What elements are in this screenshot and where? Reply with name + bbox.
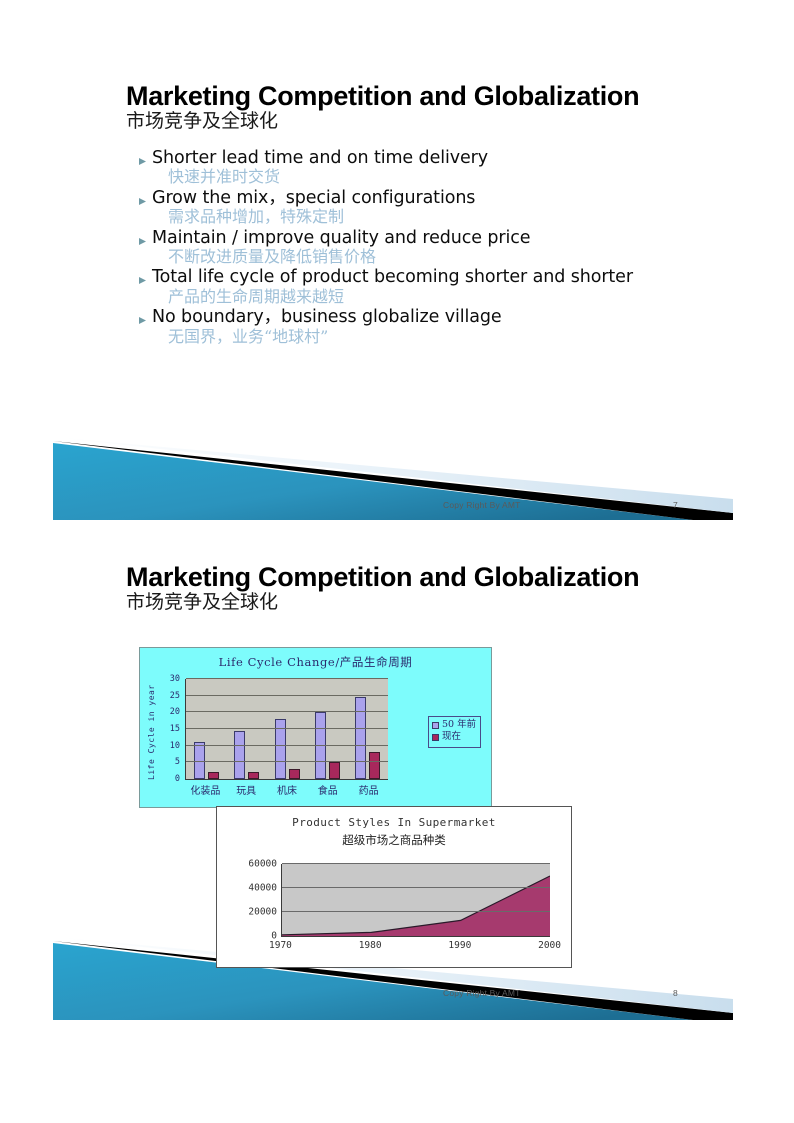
chart-plot-area [281, 864, 550, 937]
gridline [282, 863, 550, 864]
bullet-text-en: Grow the mix，special configurations [152, 188, 678, 208]
y-tick-label: 60000 [248, 859, 277, 870]
y-tick-label: 0 [175, 774, 180, 784]
life-cycle-change-chart: Life Cycle Change/产品生命周期 Life Cycle in y… [139, 647, 492, 808]
list-item: Shorter lead time and on time delivery 快… [138, 148, 678, 188]
x-tick-label: 1970 [269, 940, 292, 951]
triangle-bullet-icon [138, 148, 152, 166]
x-tick-label: 1980 [359, 940, 382, 951]
bullet-text-cn: 需求品种增加，特殊定制 [152, 207, 678, 227]
triangle-bullet-icon [138, 267, 152, 285]
slide-1-bullet-list: Shorter lead time and on time delivery 快… [138, 148, 678, 347]
x-tick-label: 机床 [267, 782, 308, 797]
bullet-text-cn: 快速并准时交货 [152, 167, 678, 187]
footer-page-number: 8 [673, 988, 678, 998]
bar [289, 769, 300, 779]
slide-1-title-cn: 市场竞争及全球化 [126, 111, 639, 133]
bullet-text-en: Shorter lead time and on time delivery [152, 148, 678, 168]
x-tick-label: 1990 [448, 940, 471, 951]
x-tick-label: 玩具 [226, 782, 267, 797]
gridline [186, 678, 388, 679]
list-item: Maintain / improve quality and reduce pr… [138, 228, 678, 268]
gridline [186, 745, 388, 746]
chart-title: Product Styles In Supermarket [217, 816, 571, 829]
area-series [282, 864, 550, 936]
list-item: Grow the mix，special configurations 需求品种… [138, 188, 678, 228]
list-item: Total life cycle of product becoming sho… [138, 267, 678, 307]
chart-plot-area [185, 679, 388, 780]
chart-title: Life Cycle Change/产品生命周期 [140, 654, 491, 670]
bullet-text-en: No boundary，business globalize village [152, 307, 678, 327]
gridline [186, 761, 388, 762]
slide-1-title-block: Marketing Competition and Globalization … [126, 82, 639, 133]
legend-item: 现在 [432, 731, 476, 743]
footer-page-number: 7 [673, 500, 678, 510]
chart-y-axis-ticks: 0200004000060000 [231, 864, 277, 936]
bar [315, 712, 326, 779]
bullet-text-en: Total life cycle of product becoming sho… [152, 267, 678, 287]
decorative-corner-graphic [53, 435, 733, 520]
triangle-bullet-icon [138, 188, 152, 206]
gridline [186, 728, 388, 729]
bullet-text-cn: 产品的生命周期越来越短 [152, 287, 678, 307]
product-styles-supermarket-chart: Product Styles In Supermarket 超级市场之商品种类 … [216, 806, 572, 968]
footer-copyright: Copy Right By AMT [443, 988, 521, 998]
x-tick-label: 药品 [348, 782, 389, 797]
list-item: No boundary，business globalize village 无… [138, 307, 678, 347]
y-tick-label: 5 [175, 757, 180, 767]
x-tick-label: 化装品 [185, 782, 226, 797]
bar [248, 772, 259, 779]
gridline [282, 887, 550, 888]
y-tick-label: 20 [170, 707, 180, 717]
slide-2-title-en: Marketing Competition and Globalization [126, 563, 639, 591]
triangle-bullet-icon [138, 228, 152, 246]
slide-1-title-en: Marketing Competition and Globalization [126, 82, 639, 110]
slide-2-title-cn: 市场竞争及全球化 [126, 592, 639, 614]
slide-1: Marketing Competition and Globalization … [0, 0, 794, 540]
footer-copyright: Copy Right By AMT [443, 500, 521, 510]
bullet-text-cn: 无国界，业务“地球村” [152, 327, 678, 347]
y-tick-label: 20000 [248, 907, 277, 918]
chart-subtitle: 超级市场之商品种类 [217, 832, 571, 848]
legend-swatch-icon [432, 722, 439, 729]
legend-label: 50 年前 [442, 719, 476, 731]
legend-item: 50 年前 [432, 719, 476, 731]
slide-2-title-block: Marketing Competition and Globalization … [126, 563, 639, 614]
x-tick-label: 食品 [307, 782, 348, 797]
bar [369, 752, 380, 779]
triangle-bullet-icon [138, 307, 152, 325]
gridline [282, 911, 550, 912]
y-tick-label: 40000 [248, 883, 277, 894]
bar [355, 697, 366, 779]
bar [234, 731, 245, 779]
bullet-text-en: Maintain / improve quality and reduce pr… [152, 228, 678, 248]
y-tick-label: 15 [170, 724, 180, 734]
y-tick-label: 10 [170, 741, 180, 751]
chart-y-axis-ticks: 051015202530 [160, 679, 180, 779]
bullet-text-cn: 不断改进质量及降低销售价格 [152, 247, 678, 267]
y-tick-label: 30 [170, 674, 180, 684]
gridline [186, 711, 388, 712]
chart-y-axis-label: Life Cycle in year [147, 684, 159, 780]
legend-label: 现在 [442, 731, 461, 743]
bar [329, 762, 340, 779]
x-tick-label: 2000 [538, 940, 561, 951]
gridline [186, 695, 388, 696]
chart-x-axis-labels: 1970198019902000 [269, 940, 561, 951]
chart-x-axis-categories: 化装品玩具机床食品药品 [185, 782, 389, 797]
bar [208, 772, 219, 779]
chart-legend: 50 年前 现在 [428, 716, 481, 748]
y-tick-label: 25 [170, 691, 180, 701]
legend-swatch-icon [432, 734, 439, 741]
